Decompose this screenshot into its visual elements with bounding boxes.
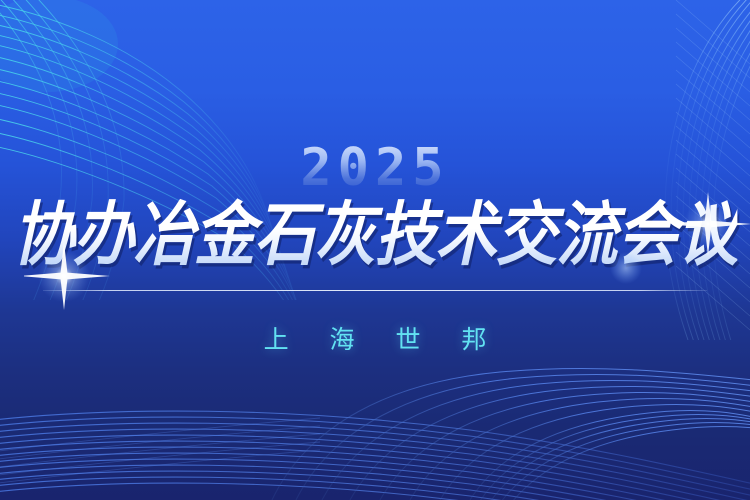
- banner-content: 2025 协办冶金石灰技术交流会议 上 海 世 邦: [0, 0, 750, 500]
- banner-year: 2025: [0, 142, 750, 194]
- conference-banner: 2025 协办冶金石灰技术交流会议 上 海 世 邦: [0, 0, 750, 500]
- banner-title: 协办冶金石灰技术交流会议: [13, 191, 738, 281]
- banner-subtitle: 上 海 世 邦: [0, 320, 750, 356]
- banner-title-wrap: 协办冶金石灰技术交流会议: [0, 196, 750, 278]
- title-divider: [43, 290, 707, 291]
